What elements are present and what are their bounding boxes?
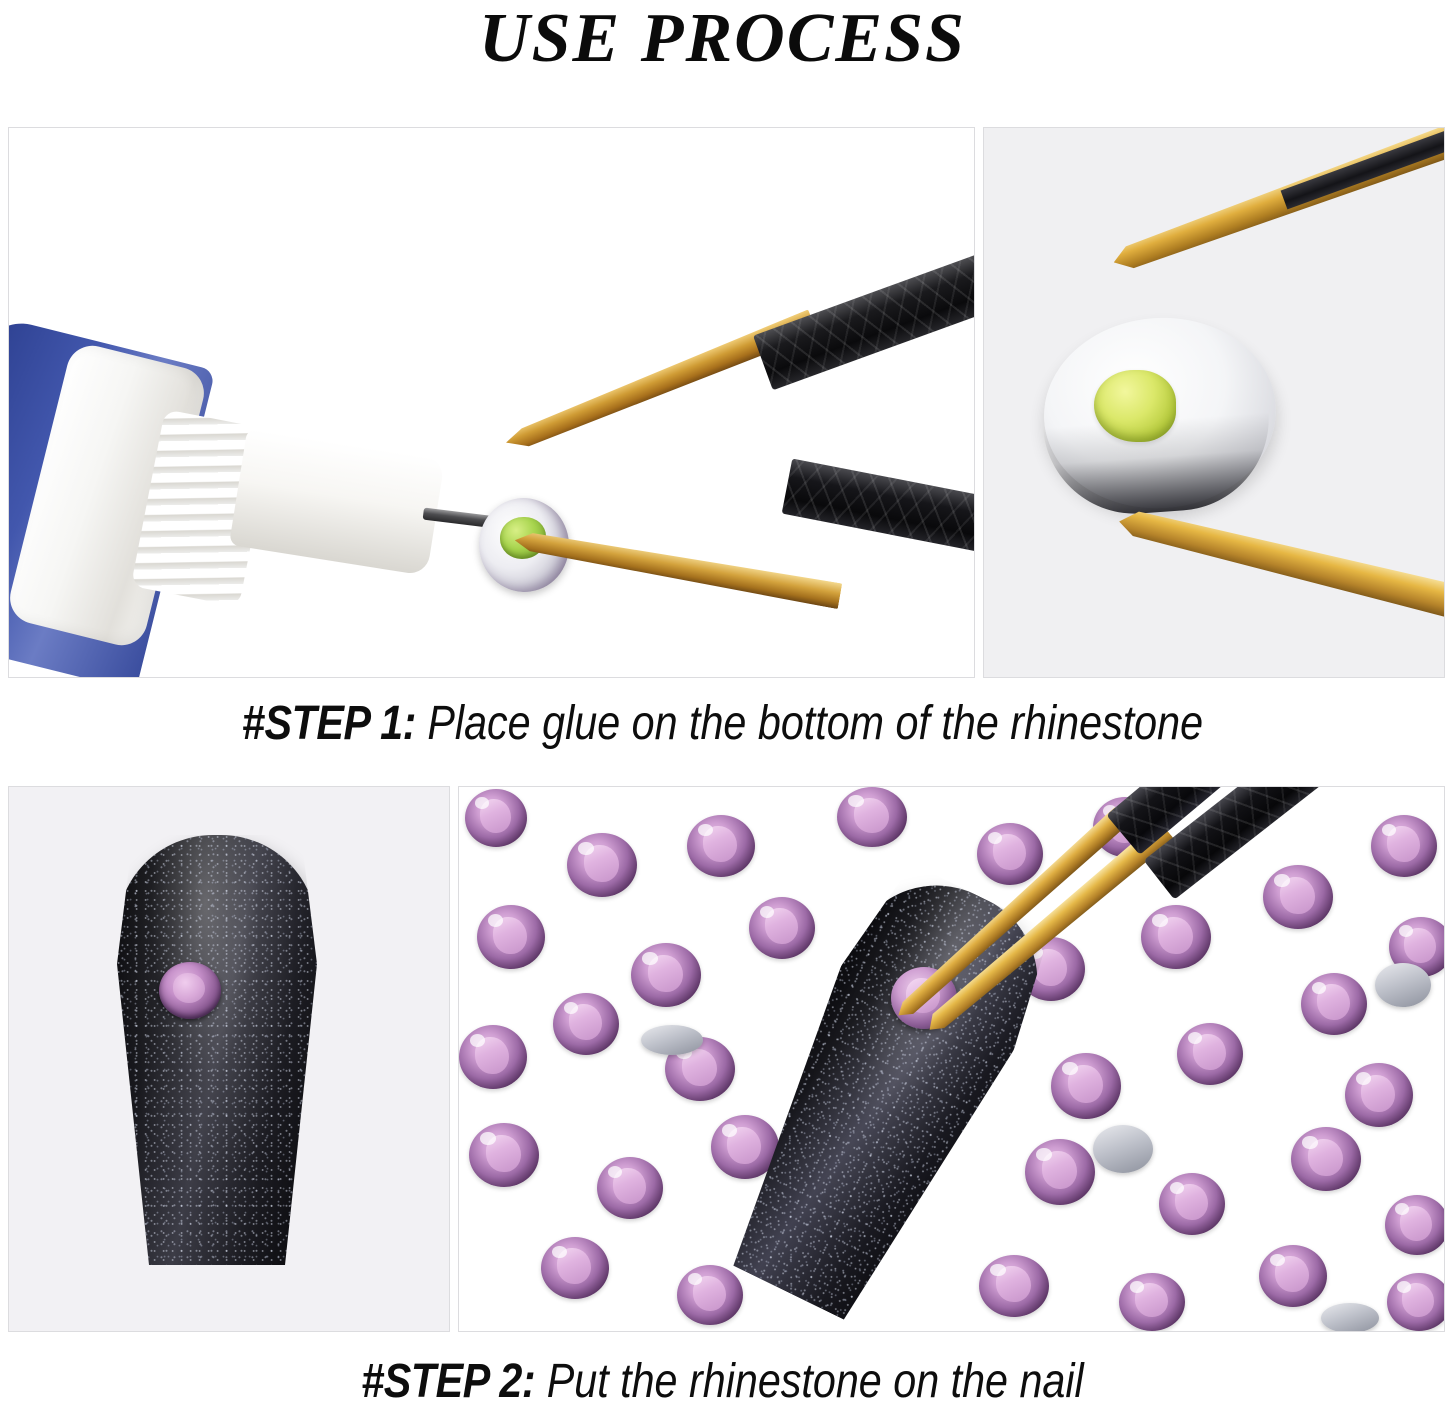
panel-glue-application xyxy=(8,127,975,678)
rhinestone-flat-back xyxy=(1375,963,1431,1007)
rhinestone xyxy=(1387,1273,1445,1331)
rhinestone xyxy=(1371,815,1437,877)
rhinestone xyxy=(979,1255,1049,1317)
rhinestone xyxy=(1301,973,1367,1035)
gold-tweezers-lower-tip xyxy=(1116,501,1445,638)
purple-rhinestone xyxy=(159,962,221,1019)
rhinestone xyxy=(597,1157,663,1219)
rhinestone xyxy=(1119,1273,1185,1331)
tweezer-grip-texture-icon xyxy=(753,240,975,390)
rhinestone xyxy=(1263,865,1333,929)
panel-applying-rhinestone xyxy=(458,786,1445,1332)
rhinestone xyxy=(1141,905,1211,969)
panel-finished-nail xyxy=(8,786,450,1332)
rhinestone xyxy=(631,943,701,1007)
rhinestone xyxy=(1345,1063,1413,1127)
rhinestone xyxy=(1177,1023,1243,1085)
rhinestone xyxy=(1385,1195,1445,1255)
rhinestone xyxy=(553,993,619,1055)
step-1-label: #STEP 1: xyxy=(242,697,416,750)
rhinestone xyxy=(541,1237,609,1299)
step-2-photo-row xyxy=(8,786,1445,1332)
rhinestone xyxy=(1159,1173,1225,1235)
rhinestone xyxy=(677,1265,743,1325)
rhinestone xyxy=(567,833,637,897)
rhinestone xyxy=(469,1123,539,1187)
rhinestone-flat-back xyxy=(641,1025,703,1055)
rhinestone-flat-back xyxy=(1093,1125,1153,1173)
rhinestone xyxy=(1291,1127,1361,1191)
nail-glitter-shimmer xyxy=(117,835,317,1265)
black-tweezer-handle-upper xyxy=(753,240,975,390)
tweezer-grip-texture-icon xyxy=(782,459,975,567)
rhinestone xyxy=(1051,1053,1121,1119)
step-2-label: #STEP 2: xyxy=(361,1355,535,1408)
panel-glue-closeup xyxy=(983,127,1445,678)
step-1-photo-row xyxy=(8,127,1445,678)
rhinestone xyxy=(687,815,755,877)
step-1-caption: #STEP 1: Place glue on the bottom of the… xyxy=(101,700,1344,748)
black-nail-tip xyxy=(117,835,317,1265)
rhinestone xyxy=(749,897,815,959)
yellow-green-glue-drop xyxy=(1094,370,1176,442)
rhinestone xyxy=(477,905,545,969)
rhinestone xyxy=(1259,1245,1327,1307)
glue-bottle-tip-barrel xyxy=(229,428,445,576)
rhinestone xyxy=(1025,1139,1095,1205)
black-tweezer-handle-lower xyxy=(782,459,975,567)
rhinestone xyxy=(459,1025,527,1089)
step-2-caption: #STEP 2: Put the rhinestone on the nail xyxy=(101,1358,1344,1406)
rhinestone xyxy=(465,789,527,847)
rhinestone-flat-back xyxy=(1321,1303,1379,1332)
tweezer-shadow-band xyxy=(1281,127,1445,209)
step-1-text: Place glue on the bottom of the rhinesto… xyxy=(416,697,1203,750)
use-process-infographic: USE PROCESS xyxy=(0,0,1445,1412)
page-title: USE PROCESS xyxy=(0,2,1445,76)
rhinestone xyxy=(837,787,907,847)
rhinestone xyxy=(977,823,1043,885)
step-2-text: Put the rhinestone on the nail xyxy=(535,1355,1083,1408)
